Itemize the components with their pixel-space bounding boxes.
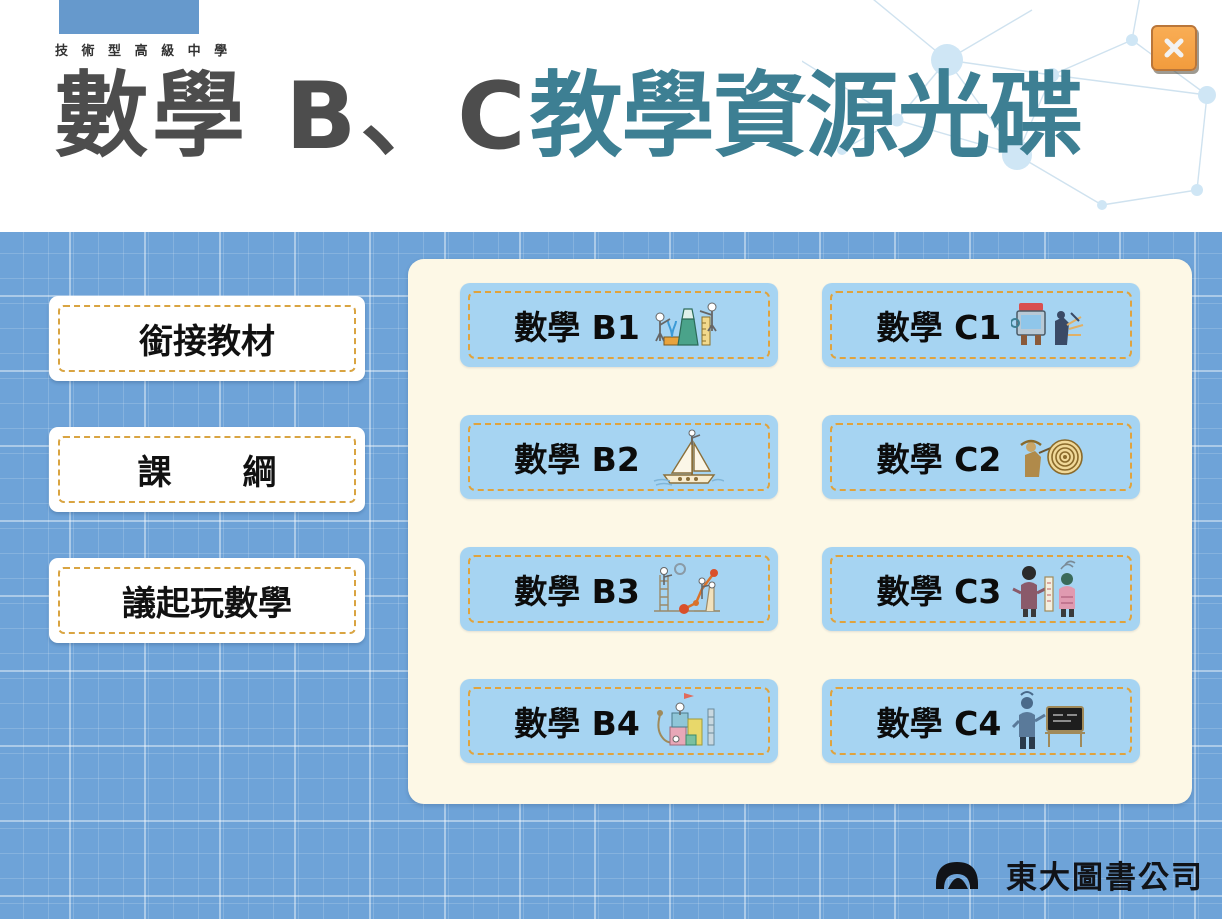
chart-builders-icon [650,559,724,619]
teacher-blackboard-icon [1011,691,1085,751]
two-figures-scroll-icon [1011,559,1085,619]
page-title-dark-part: 數學 B、C [55,62,530,170]
book-button-math-c4[interactable]: 數學 C4 [822,679,1140,763]
sailboat-icon [650,427,724,487]
app-header: 技 術 型 高 級 中 學 數學 B、C教學資源光碟 [0,0,1222,232]
book-button-label: 數學 B3 [514,565,640,613]
book-button-math-b3[interactable]: 數學 B3 [460,547,778,631]
book-button-math-c1[interactable]: 數學 C1 [822,283,1140,367]
book-panel: 數學 B1 [408,259,1192,804]
book-button-label: 數學 C1 [877,301,1002,349]
sidebar-item-play-math[interactable]: 議起玩數學 [49,558,365,643]
book-button-label: 數學 C3 [877,565,1002,613]
robot-tv-icon [1011,295,1085,355]
book-button-label: 數學 B4 [514,697,640,745]
book-button-grid: 數學 B1 [460,283,1140,763]
company-logo: 東大圖書公司 [934,852,1204,897]
sidebar-item-bridging-material[interactable]: 銜接教材 [49,296,365,381]
brand-subtitle: 技 術 型 高 級 中 學 [55,40,205,59]
sidebar-item-label: 銜接教材 [139,314,275,363]
book-button-math-b4[interactable]: 數學 B4 [460,679,778,763]
sidebar-item-curriculum-guidelines[interactable]: 課 綱 [49,427,365,512]
page-title-teal-part: 教學資源光碟 [530,62,1082,170]
application-window: 技 術 型 高 級 中 學 數學 B、C教學資源光碟 銜接教材 課 綱 議 [0,0,1222,919]
book-button-label: 數學 B2 [514,433,640,481]
company-name: 東大圖書公司 [1006,852,1204,897]
page-title: 數學 B、C教學資源光碟 [55,66,1082,166]
flask-measure-icon [650,295,724,355]
book-button-math-b1[interactable]: 數學 B1 [460,283,778,367]
blocks-flag-icon [650,691,724,751]
brand-color-block [59,0,199,34]
book-button-label: 數學 B1 [514,301,640,349]
sidebar-item-label: 課 綱 [137,445,276,494]
close-button[interactable] [1151,25,1197,71]
sidebar-item-label: 議起玩數學 [122,576,292,625]
archer-target-icon [1011,427,1085,487]
close-icon [1162,36,1186,60]
book-button-math-b2[interactable]: 數學 B2 [460,415,778,499]
mountain-arch-icon [934,858,996,892]
book-button-label: 數學 C4 [877,697,1002,745]
book-button-label: 數學 C2 [877,433,1002,481]
book-button-math-c3[interactable]: 數學 C3 [822,547,1140,631]
content-board: 銜接教材 課 綱 議起玩數學 數學 B1 [0,232,1222,919]
sidebar-menu: 銜接教材 課 綱 議起玩數學 [49,296,365,689]
book-button-math-c2[interactable]: 數學 C2 [822,415,1140,499]
